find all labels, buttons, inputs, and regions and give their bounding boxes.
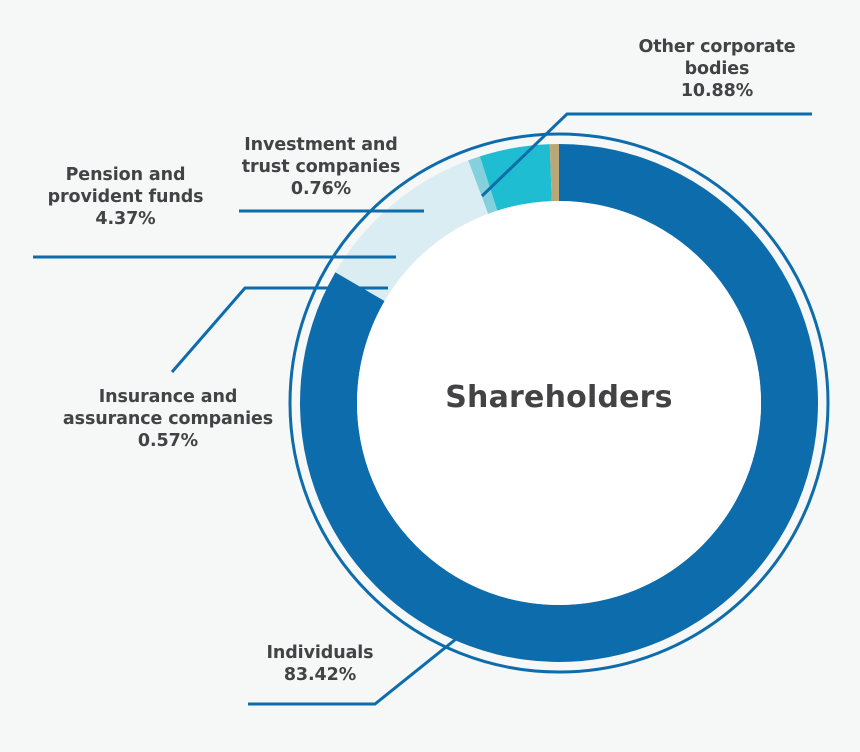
label-individuals-value: 83.42% xyxy=(220,664,420,686)
label-insurance-and-assurance-companies-value: 0.57% xyxy=(52,430,284,452)
label-individuals: Individuals 83.42% xyxy=(220,642,420,686)
label-insurance-and-assurance-companies-line1: Insurance and xyxy=(52,386,284,408)
label-individuals-line1: Individuals xyxy=(220,642,420,664)
label-investment-and-trust-companies-line1: Investment and xyxy=(226,134,416,156)
label-pension-and-provident-funds: Pension and provident funds 4.37% xyxy=(18,164,233,231)
donut-chart: Other corporate bodies 10.88% Investment… xyxy=(0,0,860,752)
chart-canvas xyxy=(0,0,860,752)
label-investment-and-trust-companies-value: 0.76% xyxy=(226,178,416,200)
label-pension-and-provident-funds-line2: provident funds xyxy=(18,186,233,208)
label-investment-and-trust-companies: Investment and trust companies 0.76% xyxy=(226,134,416,201)
label-insurance-and-assurance-companies-line2: assurance companies xyxy=(52,408,284,430)
label-investment-and-trust-companies-line2: trust companies xyxy=(226,156,416,178)
center-label: Shareholders xyxy=(434,380,684,415)
label-pension-and-provident-funds-value: 4.37% xyxy=(18,208,233,230)
label-other-corporate-bodies-line2: bodies xyxy=(622,58,812,80)
label-other-corporate-bodies: Other corporate bodies 10.88% xyxy=(622,36,812,103)
label-other-corporate-bodies-value: 10.88% xyxy=(622,80,812,102)
label-insurance-and-assurance-companies: Insurance and assurance companies 0.57% xyxy=(52,386,284,453)
label-other-corporate-bodies-line1: Other corporate xyxy=(622,36,812,58)
label-pension-and-provident-funds-line1: Pension and xyxy=(18,164,233,186)
